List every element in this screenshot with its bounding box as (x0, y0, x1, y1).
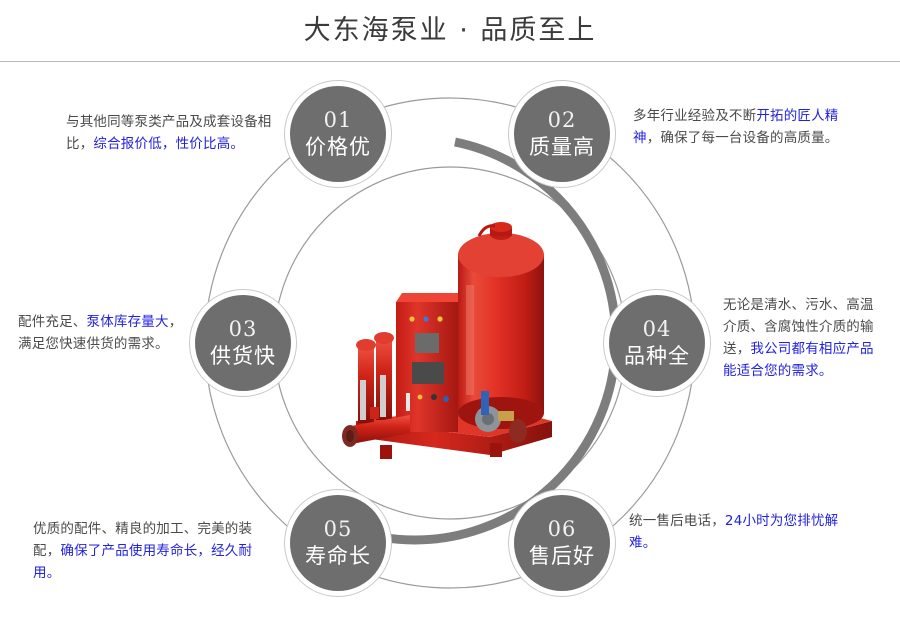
node-label: 寿命长 (305, 546, 371, 567)
description-06: 统一售后电话，24小时为您排忧解难。 (629, 511, 861, 555)
description-02: 多年行业经验及不断开拓的匠人精神，确保了每一台设备的高质量。 (633, 106, 865, 150)
desc-highlight: 泵体库存量大 (87, 314, 169, 330)
node-number: 06 (548, 519, 577, 540)
node-label: 售后好 (529, 546, 595, 567)
node-number: 04 (643, 319, 672, 340)
description-01: 与其他同等泵类产品及成套设备相比，综合报价低，性价比高。 (66, 112, 276, 156)
node-number: 01 (324, 110, 353, 131)
desc-highlight: 综合报价低，性价比高。 (93, 136, 244, 152)
infographic-canvas: 大东海泵业 · 品质至上 (0, 0, 900, 625)
node-circle-05[interactable]: 05 寿命长 (290, 495, 386, 591)
page-title: 大东海泵业 · 品质至上 (304, 17, 597, 44)
control-cabinet (396, 293, 458, 432)
node-number: 03 (229, 319, 258, 340)
node-number: 05 (324, 519, 353, 540)
pressure-tank (458, 222, 544, 429)
node-label: 质量高 (529, 137, 595, 158)
description-03: 配件充足、泵体库存量大，满足您快速供货的需求。 (18, 312, 196, 356)
node-circle-02[interactable]: 02 质量高 (514, 86, 610, 182)
desc-plain-lead: 多年行业经验及不断 (633, 108, 756, 124)
node-circle-03[interactable]: 03 供货快 (195, 295, 291, 391)
node-circle-01[interactable]: 01 价格优 (290, 86, 386, 182)
node-label: 供货快 (210, 346, 276, 367)
node-number: 02 (548, 110, 577, 131)
header-bar: 大东海泵业 · 品质至上 (0, 0, 900, 62)
node-label: 品种全 (624, 346, 690, 367)
fire-pump-unit-image (340, 205, 570, 470)
desc-plain-lead: 统一售后电话， (629, 513, 725, 529)
node-circle-04[interactable]: 04 品种全 (609, 295, 705, 391)
node-circle-06[interactable]: 06 售后好 (514, 495, 610, 591)
desc-plain-tail: ，确保了每一台设备的高质量。 (647, 130, 839, 146)
description-04: 无论是清水、污水、高温介质、含腐蚀性介质的输送，我公司都有相应产品能适合您的需求… (723, 295, 885, 382)
desc-highlight: 确保了产品使用寿命长，经久耐用。 (33, 543, 252, 581)
description-05: 优质的配件、精良的加工、完美的装配，确保了产品使用寿命长，经久耐用。 (33, 519, 269, 585)
node-label: 价格优 (305, 137, 371, 158)
desc-plain-lead: 配件充足、 (18, 314, 87, 330)
